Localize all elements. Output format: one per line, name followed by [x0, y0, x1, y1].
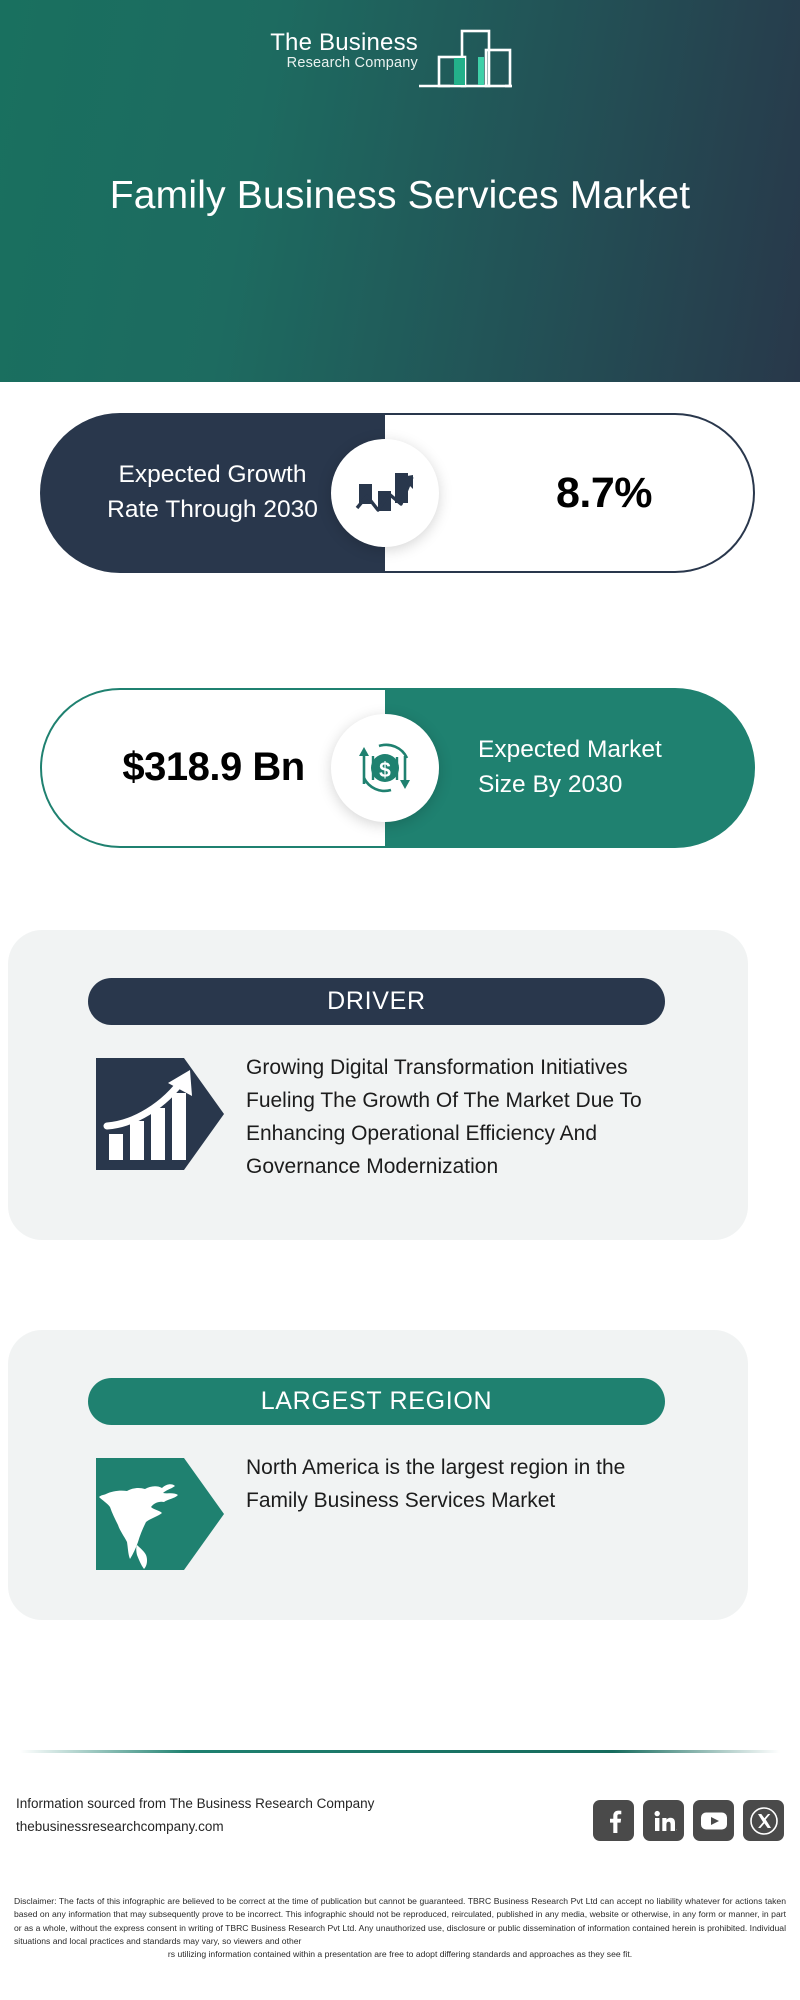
linkedin-icon[interactable]: ™ — [643, 1800, 684, 1841]
company-logo: The Business Research Company — [222, 24, 512, 94]
page-title: Family Business Services Market — [0, 170, 800, 221]
insight-text-largest-region: North America is the largest region in t… — [246, 1450, 676, 1578]
stat-card-market-size: $318.9 Bn Expected Market Size By 2030 $ — [40, 688, 755, 848]
header-banner: The Business Research Company Family Bus… — [0, 0, 800, 382]
insight-section-driver: DRIVER Growing Digital Transformation In… — [8, 930, 748, 1240]
social-links: ™ — [593, 1800, 784, 1841]
ascending-bars-arrow-icon — [96, 1050, 224, 1178]
dollar-cycle-arrows-icon: $ — [331, 714, 439, 822]
disclaimer-text: Disclaimer: The facts of this infographi… — [14, 1895, 786, 1962]
disclaimer-main: Disclaimer: The facts of this infographi… — [14, 1896, 786, 1946]
footer-source-line-1: Information sourced from The Business Re… — [16, 1792, 374, 1815]
stat-label-growth-rate: Expected Growth Rate Through 2030 — [98, 458, 328, 528]
svg-text:$: $ — [379, 759, 391, 782]
insight-body-driver: Growing Digital Transformation Initiativ… — [96, 1050, 708, 1184]
insight-body-largest-region: North America is the largest region in t… — [96, 1450, 708, 1578]
facebook-icon[interactable] — [593, 1800, 634, 1841]
stat-value-growth-rate: 8.7% — [486, 469, 652, 518]
insight-heading-largest-region: LARGEST REGION — [88, 1378, 665, 1425]
stat-card-growth-rate: Expected Growth Rate Through 2030 8.7% — [40, 413, 755, 573]
stat-card-growth-value-panel: 8.7% — [385, 413, 755, 573]
stat-card-market-label-panel: Expected Market Size By 2030 — [385, 688, 755, 848]
disclaimer-last-line: rs utilizing information contained withi… — [14, 1948, 786, 1961]
insight-heading-driver: DRIVER — [88, 978, 665, 1025]
insight-text-driver: Growing Digital Transformation Initiativ… — [246, 1050, 676, 1184]
logo-line-1: The Business — [222, 30, 418, 55]
insight-section-largest-region: LARGEST REGION North America is the larg… — [8, 1330, 748, 1620]
logo-bar-chart-icon — [417, 24, 512, 97]
growth-chart-arrow-icon — [331, 439, 439, 547]
north-america-map-icon — [96, 1450, 224, 1578]
x-twitter-icon[interactable] — [743, 1800, 784, 1841]
svg-text:™: ™ — [676, 1828, 677, 1833]
footer-website-link[interactable]: thebusinessresearchcompany.com — [16, 1815, 374, 1838]
footer-source: Information sourced from The Business Re… — [16, 1792, 374, 1838]
youtube-icon[interactable] — [693, 1800, 734, 1841]
logo-wordmark: The Business Research Company — [222, 30, 418, 73]
footer-divider — [20, 1750, 780, 1753]
stat-value-market-size: $318.9 Bn — [121, 742, 306, 793]
logo-line-2: Research Company — [222, 55, 418, 72]
